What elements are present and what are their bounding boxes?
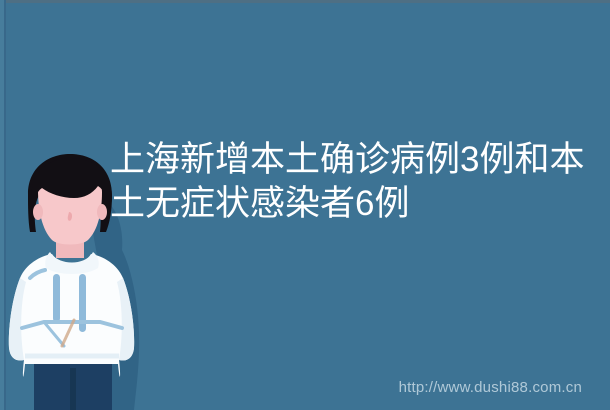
top-edge-band	[0, 0, 610, 3]
ear-right	[97, 204, 107, 220]
poster-canvas: 上海新增本土确诊病例3例和本土无症状感染者6例 http://www.dushi…	[0, 0, 610, 410]
pants-crease	[70, 368, 76, 410]
drawstring-left	[53, 274, 60, 322]
watermark-url: http://www.dushi88.com.cn	[399, 379, 582, 396]
ear-left	[33, 204, 43, 220]
page-title: 上海新增本土确诊病例3例和本土无症状感染者6例	[110, 138, 590, 226]
